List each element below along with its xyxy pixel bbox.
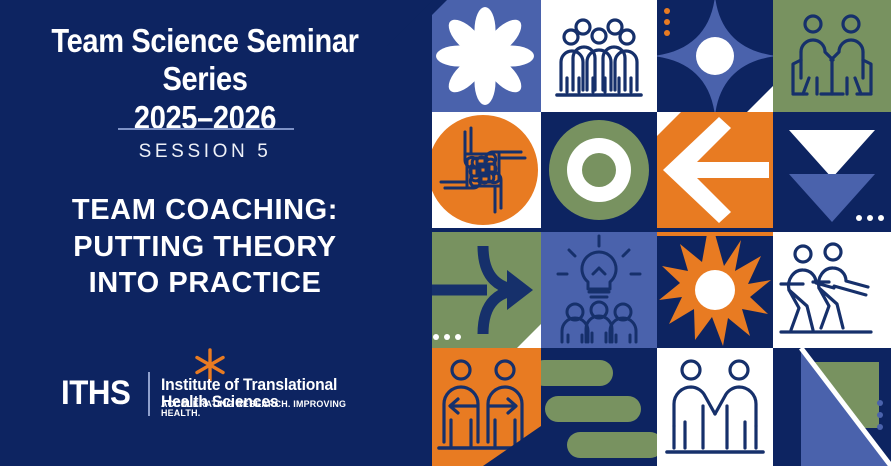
top-dots-accent <box>664 8 670 36</box>
tile-sunburst <box>657 232 773 348</box>
tile-bars <box>541 348 657 466</box>
iths-logo: ITHS Institute of Translational Health S… <box>55 348 385 418</box>
four-point-star-icon <box>657 0 773 112</box>
tile-exchange <box>425 348 541 466</box>
orange-sunburst-icon <box>657 232 773 348</box>
bottom-dots-accent <box>877 400 883 430</box>
session-label: SESSION 5 <box>0 141 410 163</box>
tile-triangles <box>773 112 891 228</box>
tile-hands <box>425 112 541 228</box>
logo-divider <box>148 372 150 416</box>
series-title-line1: Team Science Seminar Series <box>51 22 358 97</box>
tile-asterisk <box>425 0 541 112</box>
tile-arrow-left <box>657 112 773 228</box>
title-divider <box>118 128 294 130</box>
session-title-line3: INTO PRACTICE <box>0 265 410 302</box>
two-people-meeting-icon <box>773 0 891 112</box>
white-asterisk-icon <box>425 0 541 112</box>
left-text-panel: Team Science Seminar Series 2025–2026 SE… <box>0 0 432 466</box>
top-stripe <box>657 232 773 236</box>
diagonal-split-icon <box>773 348 891 466</box>
tile-handshake <box>657 348 773 466</box>
two-people-handshake-icon <box>657 348 773 466</box>
tile-pulling <box>773 232 891 348</box>
tile-converge <box>425 232 541 348</box>
session-title: TEAM COACHING: PUTTING THEORY INTO PRACT… <box>0 192 410 302</box>
icon-tile-grid <box>425 0 891 466</box>
converging-arrows-icon <box>425 232 541 348</box>
down-triangles-icon <box>773 112 891 228</box>
tile-idea-team <box>541 232 657 348</box>
tile-people-group <box>541 0 657 112</box>
green-rounded-bars-icon <box>541 348 657 466</box>
four-interlocking-hands-icon <box>425 112 541 228</box>
session-title-line2: PUTTING THEORY <box>0 229 410 266</box>
people-group-icon <box>541 0 657 112</box>
tile-target <box>541 112 657 228</box>
logo-tagline: ACCELERATING RESEARCH. IMPROVING HEALTH. <box>161 399 374 418</box>
tile-diagonal <box>773 348 891 466</box>
session-title-line1: TEAM COACHING: <box>0 192 410 229</box>
lightbulb-over-team-icon <box>541 232 657 348</box>
series-title: Team Science Seminar Series 2025–2026 <box>25 22 386 137</box>
green-dots-accent <box>433 334 461 340</box>
two-people-pulling-icon <box>773 232 891 348</box>
tile-four-point-star <box>657 0 773 112</box>
series-title-years: 2025–2026 <box>25 99 386 137</box>
logo-wordmark: ITHS <box>61 376 130 410</box>
left-arrow-icon <box>657 112 773 228</box>
seminar-promo-poster: Team Science Seminar Series 2025–2026 SE… <box>0 0 891 466</box>
concentric-target-icon <box>541 112 657 228</box>
triangle-dots-accent <box>856 215 884 221</box>
tile-meeting <box>773 0 891 112</box>
